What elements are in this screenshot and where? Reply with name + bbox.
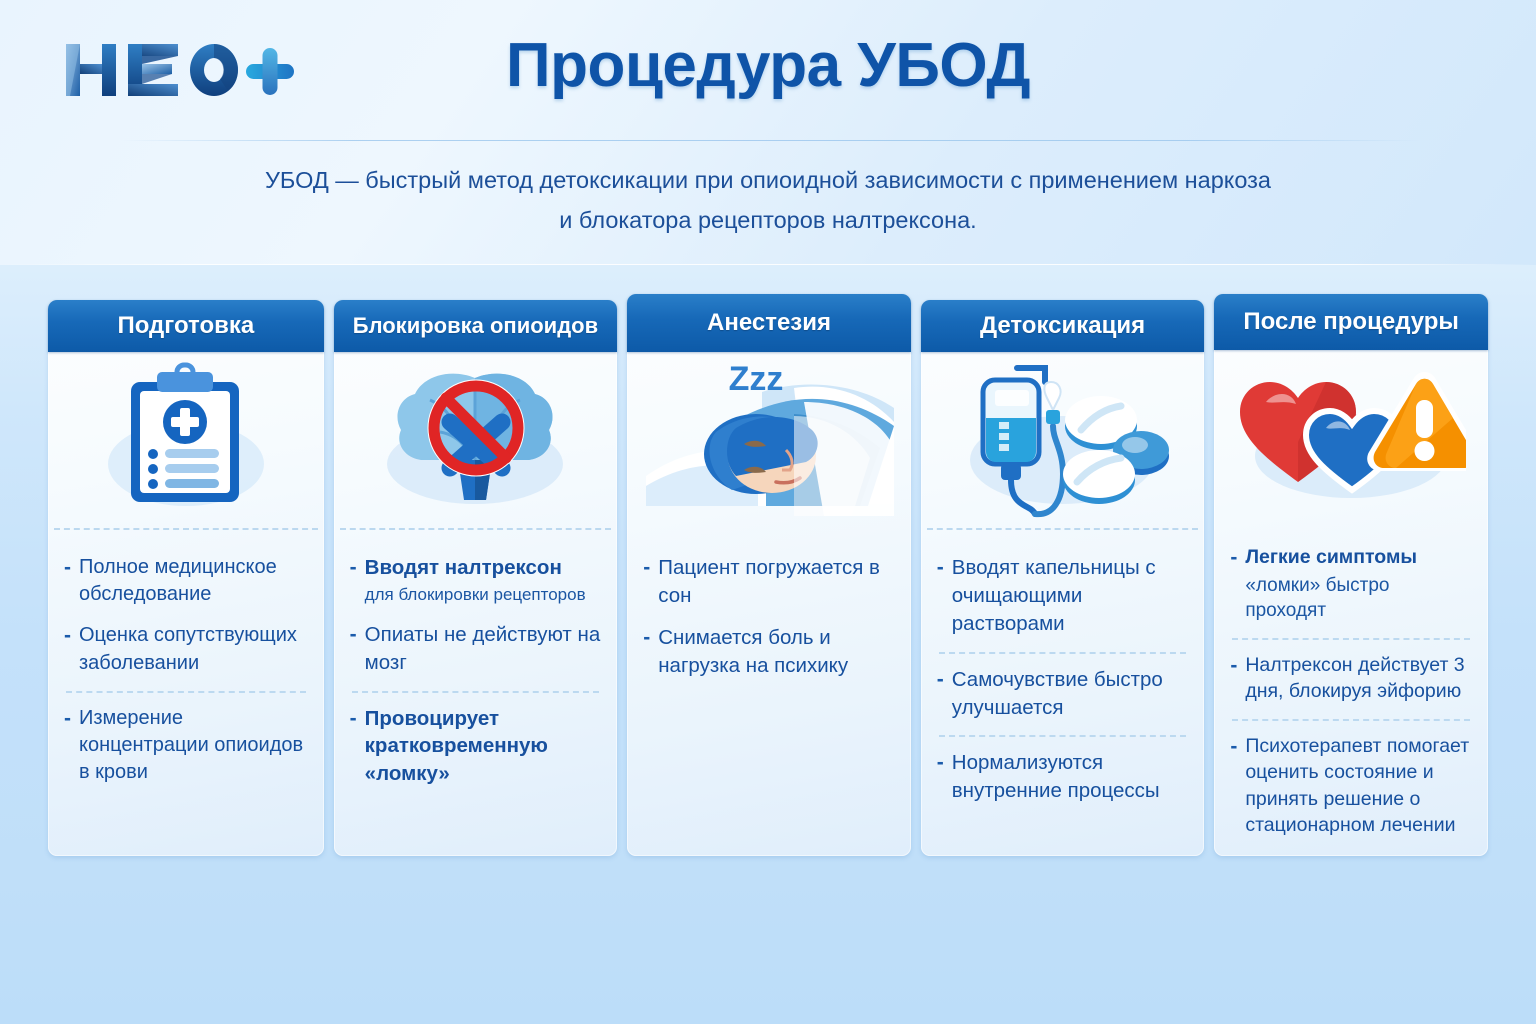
step-card-detoxification[interactable]: Детоксикация <box>921 300 1205 856</box>
sleeping-patient-icon: Zzz <box>644 358 894 523</box>
step-card-preparation[interactable]: Подготовка <box>48 300 324 856</box>
step-title: После процедуры <box>1243 308 1459 336</box>
step-icon-area <box>1214 350 1488 519</box>
bullet-text: Измерение концентрации опиоидов в крови <box>79 705 308 787</box>
band-divider <box>0 264 1536 265</box>
bullet-text: Полное медицинское обследование <box>79 554 308 608</box>
item-divider <box>352 691 600 693</box>
brain-blocked-icon <box>370 360 580 520</box>
bullet-text: Пациент погружается в сон <box>658 554 895 610</box>
icon-divider <box>340 528 612 531</box>
list-item: - Легкие симптомы «ломки» быстро проходя… <box>1228 537 1474 640</box>
bullet-text: Нормализуются внутренние процессы <box>952 749 1189 805</box>
step-body: - Легкие симптомы «ломки» быстро проходя… <box>1214 521 1488 856</box>
bullet-dash: - <box>350 621 357 649</box>
list-item: - Психотерапевт помогает оценить состоян… <box>1228 726 1474 846</box>
list-item: - Снимается боль и нагрузка на психику <box>641 617 897 687</box>
step-body: - Вводят налтрексон для блокировки рецеп… <box>334 531 618 856</box>
bullet-dash: - <box>937 749 944 777</box>
infographic-page: Процедура УБОД УБОД — быстрый метод дето… <box>0 0 1536 1024</box>
bullet-text: Легкие симптомы «ломки» быстро проходят <box>1245 544 1472 624</box>
subtitle-line-1: УБОД — быстрый метод детоксикации при оп… <box>168 160 1368 200</box>
bullet-text: Самочувствие быстро улучшается <box>952 666 1189 722</box>
bullet-dash: - <box>937 554 944 582</box>
bullet-text: Оценка сопутствующих заболевании <box>79 622 308 676</box>
bullet-text: Налтрексон действует 3 дня, блокируя эйф… <box>1245 652 1472 705</box>
bullet-dash: - <box>1230 733 1237 761</box>
bullet-main: Легкие симптомы <box>1245 546 1417 568</box>
step-title: Блокировка опиоидов <box>353 313 598 339</box>
zzz-label: Zzz <box>729 360 784 398</box>
step-title: Подготовка <box>117 312 254 340</box>
bullet-main: Вводят налтрексон <box>365 556 562 579</box>
header-divider-line <box>120 140 1420 141</box>
step-icon-area <box>334 352 618 528</box>
bullet-text: Опиаты не действуют на мозг <box>365 621 602 677</box>
bullet-text: Провоцирует кратковременную «ломку» <box>365 705 602 789</box>
step-header-opioid-block: Блокировка опиоидов <box>334 300 618 352</box>
hearts-warning-icon <box>1236 354 1466 514</box>
exclamation-dot <box>1415 441 1435 461</box>
iv-drip-pills-icon <box>955 360 1170 520</box>
bullet-subtext: «ломки» быстро проходят <box>1245 573 1472 624</box>
list-item: - Провоцирует кратковременную «ломку» <box>348 698 604 796</box>
icon-divider <box>54 528 318 531</box>
bullet-subtext: для блокировки рецепторов <box>365 584 586 607</box>
bullet-dash: - <box>350 554 357 582</box>
list-item: - Полное медицинское обследование <box>62 547 310 615</box>
bullet-dash: - <box>643 624 650 652</box>
item-divider <box>66 691 306 693</box>
step-body: - Пациент погружается в сон - Снимается … <box>627 531 911 856</box>
bullet-text: Вводят капельницы с очищающими растворам… <box>952 554 1189 638</box>
clipboard-medical-icon <box>91 360 281 520</box>
step-body: - Вводят капельницы с очищающими раствор… <box>921 531 1205 856</box>
list-item: - Налтрексон действует 3 дня, блокируя э… <box>1228 645 1474 721</box>
bullet-dash: - <box>64 554 71 582</box>
page-title: Процедура УБОД <box>0 30 1536 101</box>
bullet-dash: - <box>1230 544 1237 572</box>
step-header-detoxification: Детоксикация <box>921 300 1205 352</box>
page-subtitle: УБОД — быстрый метод детоксикации при оп… <box>168 160 1368 241</box>
step-icon-area <box>48 352 324 528</box>
list-item: - Пациент погружается в сон <box>641 547 897 617</box>
step-header-preparation: Подготовка <box>48 300 324 352</box>
item-divider <box>1232 638 1470 640</box>
bullet-text: Вводят налтрексон для блокировки рецепто… <box>365 554 586 607</box>
bullet-dash: - <box>1230 652 1237 680</box>
list-item: - Измерение концентрации опиоидов в кров… <box>62 698 310 794</box>
bullet-text: Снимается боль и нагрузка на психику <box>658 624 895 680</box>
exclamation-bar <box>1416 400 1433 438</box>
list-item: - Оценка сопутствующих заболевании <box>62 615 310 692</box>
step-card-anesthesia[interactable]: Анестезия <box>627 294 911 856</box>
step-card-opioid-block[interactable]: Блокировка опиоидов <box>334 300 618 856</box>
step-title: Детоксикация <box>980 312 1145 340</box>
step-header-after-procedure: После процедуры <box>1214 294 1488 350</box>
list-item: - Нормализуются внутренние процессы <box>935 742 1191 812</box>
icon-divider <box>927 528 1199 531</box>
step-icon-area: Zzz <box>627 352 911 528</box>
bullet-dash: - <box>937 666 944 694</box>
item-divider <box>1232 719 1470 721</box>
list-item: - Вводят налтрексон для блокировки рецеп… <box>348 547 604 614</box>
subtitle-line-2: и блокатора рецепторов налтрексона. <box>168 200 1368 240</box>
step-title: Анестезия <box>707 309 831 337</box>
item-divider <box>939 735 1187 737</box>
bullet-dash: - <box>64 705 71 733</box>
bullet-dash: - <box>643 554 650 582</box>
item-divider <box>939 652 1187 654</box>
step-body: - Полное медицинское обследование - Оцен… <box>48 531 324 856</box>
list-item: - Опиаты не действуют на мозг <box>348 614 604 693</box>
step-icon-area <box>921 352 1205 528</box>
bullet-text: Психотерапевт помогает оценить состояние… <box>1245 733 1472 839</box>
list-item: - Вводят капельницы с очищающими раствор… <box>935 547 1191 654</box>
bullet-dash: - <box>350 705 357 733</box>
bullet-dash: - <box>64 622 71 650</box>
step-card-after-procedure[interactable]: После процедуры <box>1214 294 1488 856</box>
list-item: - Самочувствие быстро улучшается <box>935 659 1191 738</box>
step-header-anesthesia: Анестезия <box>627 294 911 352</box>
steps-row: Подготовка <box>48 294 1488 856</box>
